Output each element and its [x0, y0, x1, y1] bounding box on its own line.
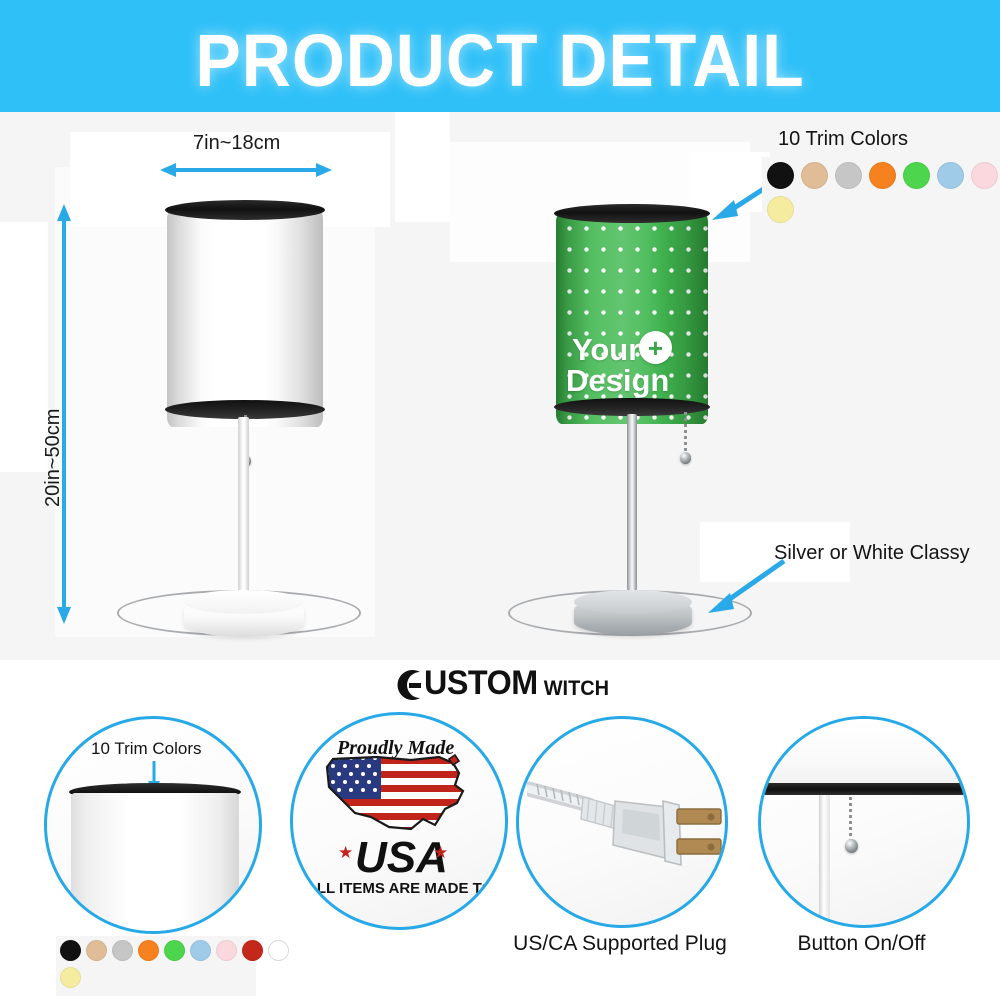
plus-icon: + [648, 335, 663, 361]
shade-trim-top [165, 200, 325, 220]
feature-shade-body [71, 793, 239, 934]
feature-trim-colors-title: 10 Trim Colors [91, 739, 202, 759]
product-detail-page: PRODUCT DETAIL 7in~18cm 20in~50cm [0, 0, 1000, 1000]
usa-badge-tagline: ALL ITEMS ARE MADE TO ORDER! [306, 880, 508, 897]
trim-swatch-orange[interactable] [138, 940, 159, 961]
height-dimension-arrow [54, 204, 74, 624]
swatch-row-2 [60, 967, 81, 988]
usa-flag-map-icon [319, 751, 479, 841]
base-finish-arrow [700, 555, 790, 615]
shade-trim-top [554, 204, 710, 223]
pull-chain-ball[interactable] [680, 452, 691, 464]
trim-swatch-black[interactable] [767, 162, 794, 189]
lamp-shade-white [167, 209, 323, 427]
logo-primary-text: USTOM [424, 664, 538, 703]
trim-swatch-orange[interactable] [869, 162, 896, 189]
feature-shade-body [761, 719, 967, 789]
trim-swatch-white[interactable] [268, 940, 289, 961]
header-banner: PRODUCT DETAIL [0, 0, 1000, 112]
design-text-line1: Your [572, 334, 640, 365]
trim-swatch-gray[interactable] [835, 162, 862, 189]
feature-pull-chain-ball[interactable] [845, 839, 858, 853]
crescent-c-icon [389, 667, 423, 703]
trim-swatch-green[interactable] [903, 162, 930, 189]
trim-swatch-tan[interactable] [86, 940, 107, 961]
trim-swatch-green[interactable] [164, 940, 185, 961]
width-dimension-arrow [160, 160, 332, 180]
feature-shade-trim [763, 783, 965, 795]
trim-colors-palette-top [762, 157, 1000, 229]
feature-plug-caption: US/CA Supported Plug [500, 932, 740, 956]
feature-pull-chain[interactable] [849, 797, 852, 843]
pull-chain[interactable] [684, 412, 687, 454]
lamp-pole [238, 417, 249, 607]
bg-patch [395, 112, 450, 222]
feature-trim-colors: 10 Trim Colors [44, 716, 262, 934]
feature-plug [516, 716, 728, 928]
trim-swatch-black[interactable] [60, 940, 81, 961]
feature-made-in-usa: Proudly Made in the [290, 712, 508, 930]
add-design-badge[interactable]: + [639, 331, 672, 364]
lamp-base-top [184, 590, 304, 614]
trim-swatch-tan[interactable] [801, 162, 828, 189]
trim-colors-palette-bottom [56, 936, 256, 996]
trim-swatch-light-blue[interactable] [937, 162, 964, 189]
star-right-icon: ★ [433, 843, 448, 863]
design-text-line2: Design [566, 365, 669, 396]
trim-swatch-pink[interactable] [971, 162, 998, 189]
main-stage: 7in~18cm 20in~50cm [0, 112, 1000, 660]
lamp-pole [627, 414, 637, 604]
star-left-icon: ★ [338, 843, 353, 863]
bg-patch [0, 222, 48, 472]
swatch-row-1 [60, 940, 289, 961]
trim-swatch-gray[interactable] [112, 940, 133, 961]
lamp-base-top [574, 590, 692, 614]
width-dimension-label: 7in~18cm [193, 132, 280, 155]
trim-swatch-red[interactable] [242, 940, 263, 961]
feature-strip: 10 Trim Colors Proudly Made in the [0, 700, 1000, 1000]
logo-secondary-text: WITCH [544, 677, 609, 701]
trim-swatch-yellow[interactable] [60, 967, 81, 988]
swatch-row-2 [767, 196, 794, 223]
trim-swatch-yellow[interactable] [767, 196, 794, 223]
feature-button-caption: Button On/Off [744, 932, 979, 956]
trim-colors-title: 10 Trim Colors [778, 128, 908, 151]
feature-lamp-pole [819, 795, 830, 925]
base-finish-label: Silver or White Classy [774, 542, 970, 565]
trim-swatch-pink[interactable] [216, 940, 237, 961]
us-plug-icon [527, 767, 723, 887]
trim-swatch-light-blue[interactable] [190, 940, 211, 961]
feature-button-on-off [758, 716, 970, 928]
swatch-row-1 [767, 162, 1000, 189]
page-title: PRODUCT DETAIL [40, 18, 960, 103]
